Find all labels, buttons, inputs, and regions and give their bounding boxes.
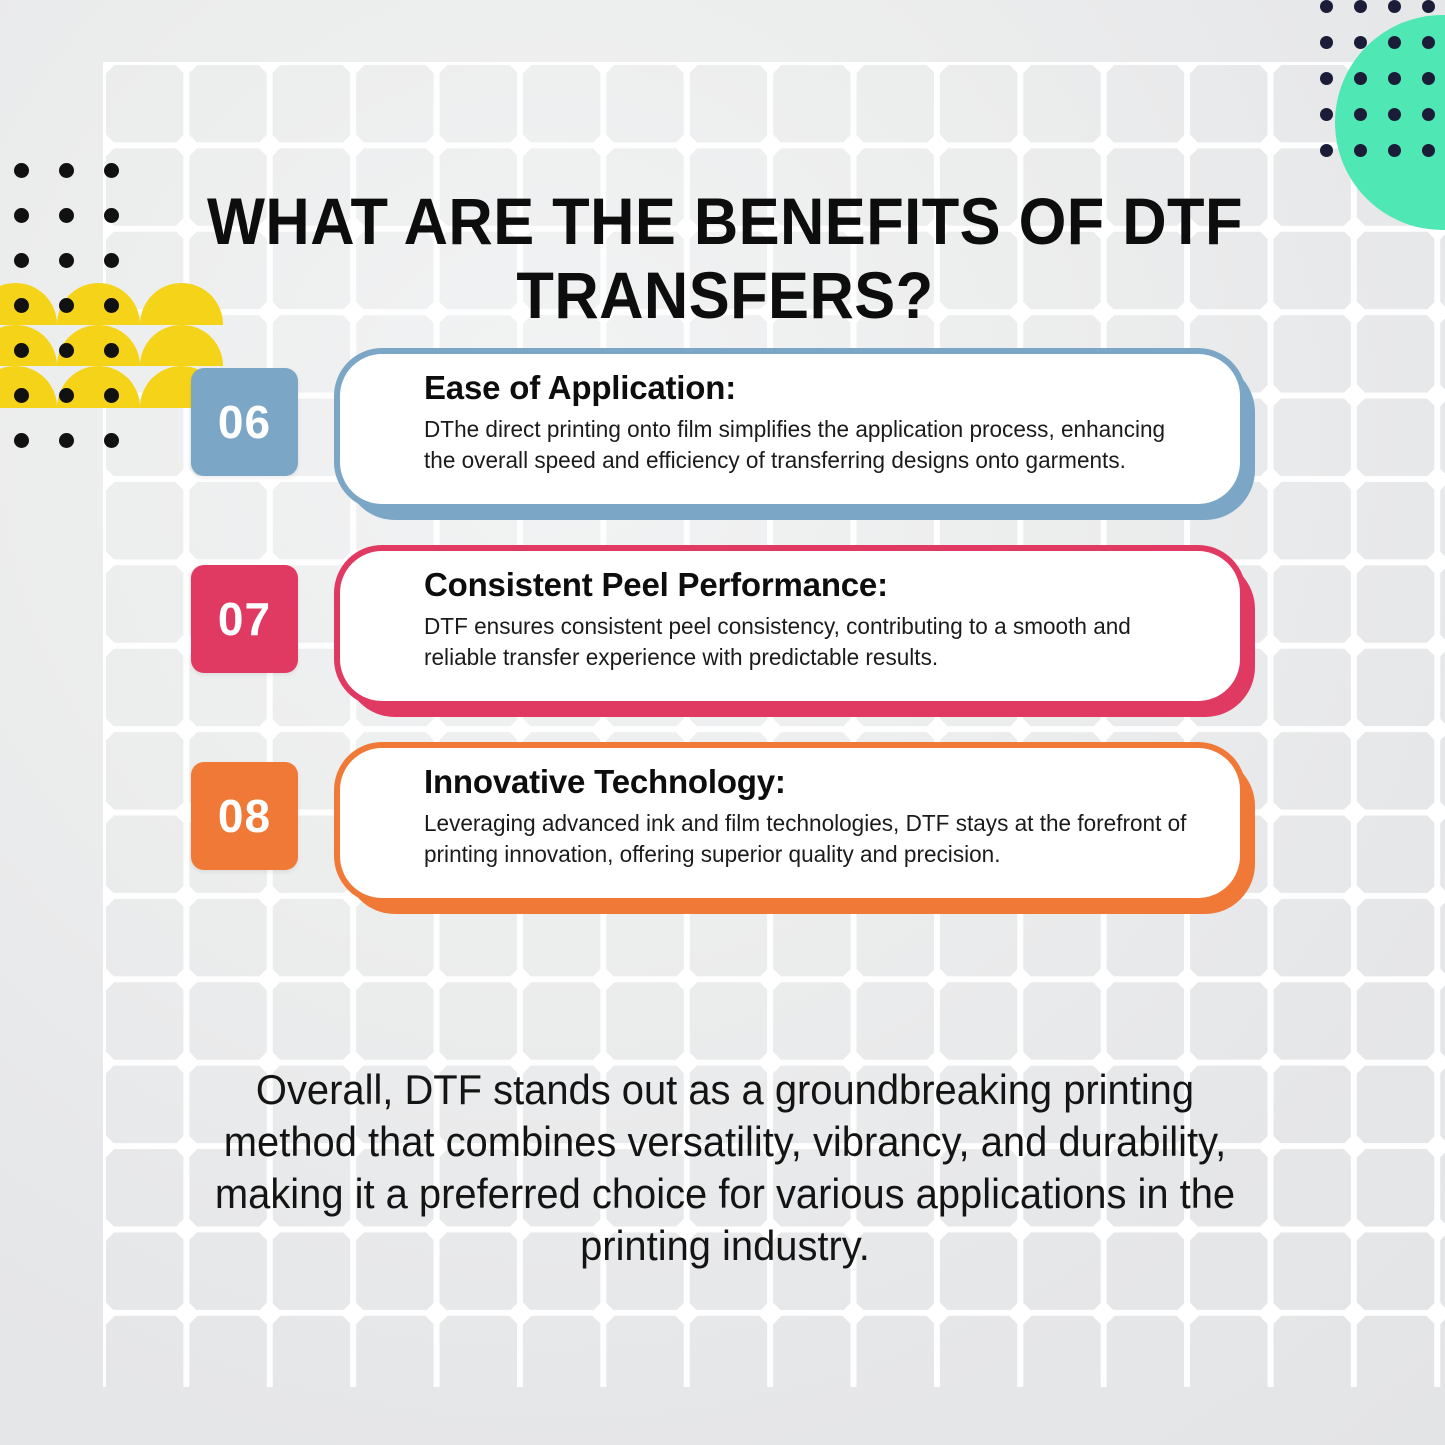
card-number-badge: 08	[191, 762, 298, 870]
card-body-container[interactable]: Innovative Technology:Leveraging advance…	[334, 742, 1246, 904]
card-text-block: Innovative Technology:Leveraging advance…	[424, 762, 1234, 870]
card-title: Innovative Technology:	[424, 762, 1234, 802]
card-number-badge: 06	[191, 368, 298, 476]
card-body-container[interactable]: Ease of Application:DThe direct printing…	[334, 348, 1246, 510]
card-number-badge: 07	[191, 565, 298, 673]
card-text-block: Ease of Application:DThe direct printing…	[424, 368, 1234, 476]
summary-paragraph: Overall, DTF stands out as a groundbreak…	[203, 1064, 1248, 1272]
card-description: DThe direct printing onto film simplifie…	[424, 414, 1202, 476]
infographic-canvas: WHAT ARE THE BENEFITS OF DTF TRANSFERS? …	[0, 0, 1445, 1445]
card-description: Leveraging advanced ink and film technol…	[424, 808, 1202, 870]
card-description: DTF ensures consistent peel consistency,…	[424, 611, 1202, 673]
card-title: Consistent Peel Performance:	[424, 565, 1234, 605]
card-title: Ease of Application:	[424, 368, 1234, 408]
card-body-container[interactable]: Consistent Peel Performance:DTF ensures …	[334, 545, 1246, 707]
card-text-block: Consistent Peel Performance:DTF ensures …	[424, 565, 1234, 673]
